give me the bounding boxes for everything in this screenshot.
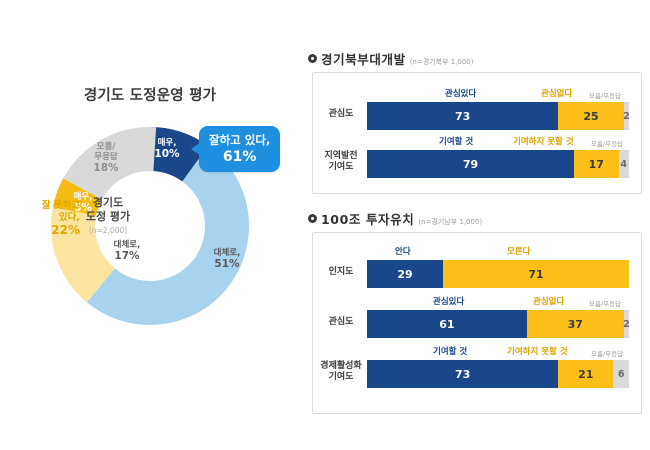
slice-label-maeu-positive: 매우, 10% [146,138,188,161]
bar-value-no-answer: 6 [618,369,625,380]
slice-label-value: 10% [146,148,188,161]
bar-value-positive: 61 [439,318,454,331]
bullet-icon [308,214,317,223]
slice-label-name2: 무응답 [84,152,128,162]
bar-category-label: 관심도 [317,317,365,328]
slice-label-name: 매우, [146,138,188,148]
legend-no-answer: 모름/무응답 [589,90,621,100]
bar-segment-negative: 71 [443,260,629,288]
legend-negative: 기여하지 못할 것 [507,345,568,357]
section-sample-size: (n=경기북부 1,000) [410,57,474,67]
slice-label-daeche-negative: 대체로, 17% [104,240,150,263]
legend-positive: 안다 [395,245,411,257]
bar-sections-panel: 경기북부대개발 (n=경기북부 1,000) 관심있다 관심없다 모름/무응답 … [300,0,650,450]
legend-positive: 관심있다 [445,87,476,99]
section-header-investment: 100조 투자유치 (n=경기남부 1,000) [308,209,482,228]
bar-legend: 관심있다 관심없다 모름/무응답 [367,87,629,100]
bar-value-no-answer: 2 [623,319,629,330]
bar-segment-no-answer: 2 [624,310,629,338]
bar-row: 관심있다 관심없다 모름/무응답 관심도 73 25 2 [313,87,643,133]
bar-segment-negative: 21 [558,360,613,388]
bar-row: 기여할 것 기여하지 못할 것 모름/무응답 지역발전 기여도 79 17 [313,135,643,181]
legend-negative: 관심없다 [533,295,564,307]
bar-category-line-2: 기여도 [317,372,365,383]
stacked-bar: 29 71 [367,260,629,288]
bar-value-negative: 21 [578,368,593,381]
bar-segment-negative: 25 [558,102,624,130]
slice-label-name: 대체로, [104,240,150,250]
stacked-bar: 73 25 2 [367,102,629,130]
bar-category-label: 경제활성화 기여도 [317,361,365,384]
bar-segment-no-answer: 4 [619,150,629,178]
section-header-north-development: 경기북부대개발 (n=경기북부 1,000) [308,49,474,68]
legend-positive: 기여할 것 [433,345,467,357]
section-sample-size: (n=경기남부 1,000) [418,217,482,227]
section-panel-north-development: 관심있다 관심없다 모름/무응답 관심도 73 25 2 [312,72,642,194]
slice-label-value: 18% [84,162,128,175]
bar-row: 관심있다 관심없다 모름/무응답 관심도 61 37 2 [313,295,643,341]
bar-row: 기여할 것 기여하지 못할 것 모름/무응답 경제활성화 기여도 73 21 [313,345,643,391]
legend-no-answer: 모름/무응답 [591,138,623,148]
slice-label-daeche-positive: 대체로, 51% [200,248,254,271]
bullet-icon [308,54,317,63]
slice-label-value: 17% [104,250,150,263]
bar-segment-negative: 17 [574,150,619,178]
donut-panel: 경기도 도정운영 평가 경기도 [0,0,300,450]
legend-negative: 모른다 [507,245,530,257]
bar-legend: 기여할 것 기여하지 못할 것 모름/무응답 [367,345,629,358]
bar-row: 안다 모른다 인지도 29 71 [313,245,643,291]
negative-summary-value: 22% [6,223,80,238]
bar-legend: 기여할 것 기여하지 못할 것 모름/무응답 [367,135,629,148]
bar-category-label: 지역발전 기여도 [317,151,365,174]
negative-summary-line-1: 잘 못하고 [6,200,80,212]
bar-value-positive: 73 [455,110,470,123]
legend-no-answer: 모름/무응답 [591,348,623,358]
donut-title: 경기도 도정운영 평가 [0,84,300,105]
center-sample-size: (n=2,000) [68,226,148,236]
slice-label-name: 대체로, [200,248,254,258]
legend-no-answer: 모름/무응답 [589,298,621,308]
bar-value-no-answer: 4 [620,159,627,170]
section-title: 경기북부대개발 [321,49,406,68]
negative-summary-label: 잘 못하고 있다, 22% [6,200,80,238]
callout-label: 잘하고 있다, [209,132,270,148]
bar-segment-negative: 37 [527,310,624,338]
bar-segment-no-answer: 2 [624,102,629,130]
bar-category-label: 인지도 [317,267,365,278]
bar-value-positive: 73 [455,368,470,381]
legend-negative: 관심없다 [541,87,572,99]
bar-segment-positive: 79 [367,150,574,178]
bar-category-label: 관심도 [317,109,365,120]
negative-summary-line-2: 있다, [6,212,80,224]
bar-legend: 안다 모른다 [367,245,629,258]
infographic-page: 경기도 도정운영 평가 경기도 [0,0,650,450]
positive-summary-callout: 잘하고 있다, 61% [199,126,280,172]
slice-label-value: 51% [200,258,254,271]
section-title: 100조 투자유치 [321,209,414,228]
stacked-bar: 61 37 2 [367,310,629,338]
bar-segment-positive: 29 [367,260,443,288]
bar-segment-positive: 73 [367,102,558,130]
bar-category-line-1: 경제활성화 [317,361,365,372]
bar-value-negative: 25 [583,110,598,123]
stacked-bar: 73 21 6 [367,360,629,388]
legend-negative: 기여하지 못할 것 [513,135,574,147]
bar-value-negative: 71 [528,268,543,281]
bar-segment-no-answer: 6 [613,360,629,388]
bar-value-negative: 37 [568,318,583,331]
bar-segment-positive: 61 [367,310,527,338]
bar-value-no-answer: 2 [623,111,629,122]
section-panel-investment: 안다 모른다 인지도 29 71 관심있다 관심없다 [312,232,642,414]
slice-label-name: 모름/ [84,142,128,152]
bar-category-line-1: 지역발전 [317,151,365,162]
stacked-bar: 79 17 4 [367,150,629,178]
slice-label-no-answer: 모름/ 무응답 18% [84,142,128,175]
bar-segment-positive: 73 [367,360,558,388]
callout-value: 61% [209,149,270,165]
bar-legend: 관심있다 관심없다 모름/무응답 [367,295,629,308]
legend-positive: 기여할 것 [439,135,473,147]
bar-value-negative: 17 [589,158,604,171]
bar-category-line-2: 기여도 [317,162,365,173]
legend-positive: 관심있다 [433,295,464,307]
bar-value-positive: 79 [463,158,478,171]
bar-value-positive: 29 [397,268,412,281]
